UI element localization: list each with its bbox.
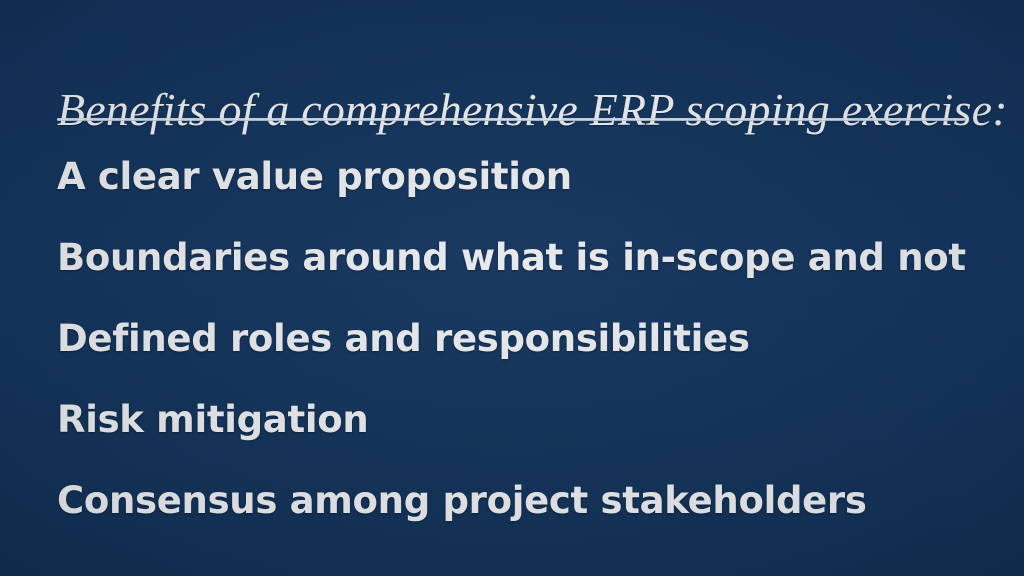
title-divider	[57, 118, 965, 121]
list-item-label: A clear value proposition	[57, 155, 572, 199]
list-item: Defined roles and responsibilities	[57, 317, 969, 398]
list-item-label: Defined roles and responsibilities	[57, 317, 750, 361]
list-item-label: Boundaries around what is in-scope and n…	[57, 236, 966, 280]
list-item: Risk mitigation	[57, 398, 969, 479]
list-item: A clear value proposition	[57, 155, 969, 236]
presentation-slide: Benefits of a comprehensive ERP scoping …	[0, 0, 1024, 576]
list-item-label: Risk mitigation	[57, 398, 368, 442]
slide-content: Benefits of a comprehensive ERP scoping …	[57, 0, 969, 576]
page-title: Benefits of a comprehensive ERP scoping …	[57, 84, 969, 136]
list-item: Boundaries around what is in-scope and n…	[57, 236, 969, 317]
benefits-list: A clear value proposition Boundaries aro…	[57, 155, 969, 560]
list-item: Consensus among project stakeholders	[57, 479, 969, 560]
list-item-label: Consensus among project stakeholders	[57, 479, 867, 523]
